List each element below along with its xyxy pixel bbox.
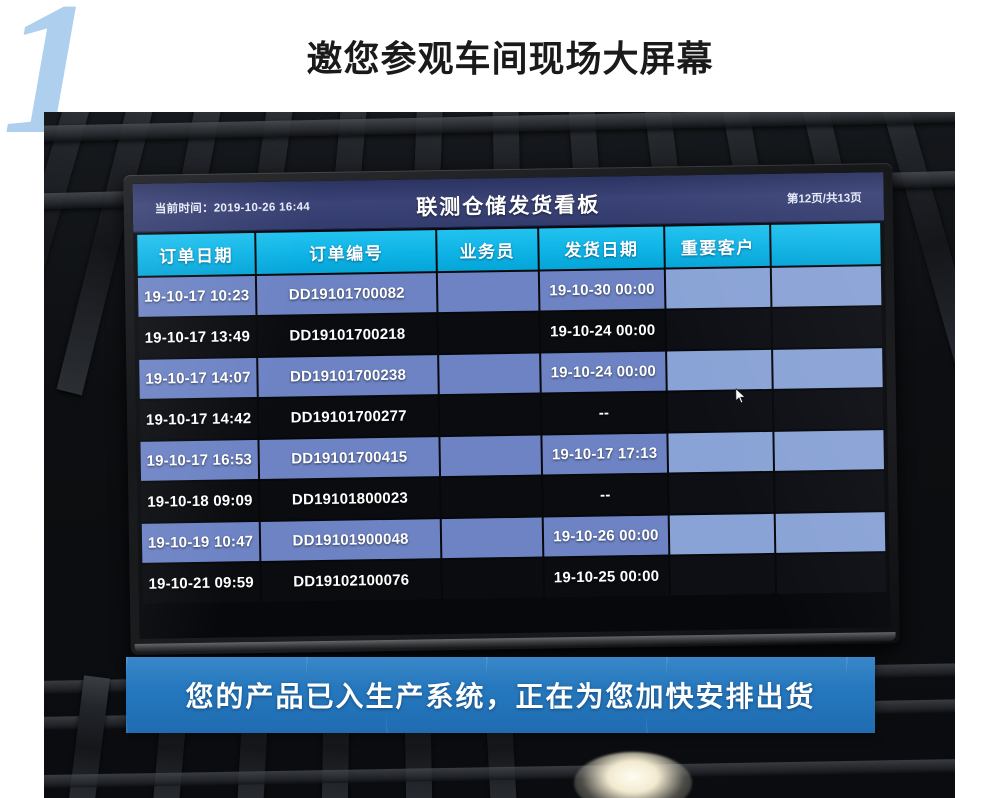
cell-order-date: 19-10-17 10:23: [138, 276, 256, 317]
cell-order-date: 19-10-17 14:07: [139, 358, 257, 399]
column-header-order-no: 订单编号: [256, 230, 436, 274]
cell-order-date: 19-10-17 13:49: [139, 317, 257, 358]
cell-key-customer: [667, 309, 772, 350]
cell-order-no: DD19101700218: [258, 314, 438, 356]
cell-key-customer: [671, 555, 776, 596]
cell-ship-date: 19-10-24 00:00: [540, 311, 665, 352]
cell-key-customer: [668, 391, 773, 432]
shipping-kanban-table: 订单日期 订单编号 业务员 发货日期 重要客户 19-10-17 10:23 D…: [133, 221, 890, 608]
table-body: 19-10-17 10:23 DD19101700082 19-10-30 00…: [138, 266, 886, 604]
cell-order-date: 19-10-19 10:47: [142, 522, 260, 563]
cell-key-customer: [666, 268, 771, 309]
page-indicator: 第12页/共13页: [787, 189, 862, 206]
page-title: 邀您参观车间现场大屏幕: [0, 30, 1000, 82]
cell-extra: [776, 512, 885, 553]
cell-salesperson: [439, 354, 539, 395]
cell-extra: [777, 553, 886, 594]
dashboard-title: 联测仓储发货看板: [133, 184, 884, 226]
cell-ship-date: 19-10-24 00:00: [541, 352, 666, 393]
column-header-salesperson: 业务员: [437, 229, 537, 272]
cell-salesperson: [442, 518, 542, 559]
column-header-extra: [771, 223, 880, 266]
bottom-banner: 您的产品已入生产系统，正在为您加快安排出货: [126, 657, 875, 733]
cell-order-date: 19-10-17 16:53: [140, 440, 258, 481]
banner-text: 您的产品已入生产系统，正在为您加快安排出货: [185, 675, 815, 715]
cell-order-date: 19-10-17 14:42: [140, 399, 258, 440]
column-header-key-customer: 重要客户: [665, 225, 770, 268]
cell-key-customer: [669, 473, 774, 514]
cell-ship-date: 19-10-17 17:13: [542, 434, 667, 475]
cell-salesperson: [441, 477, 541, 518]
cell-order-no: DD19101700238: [258, 355, 438, 397]
cell-extra: [773, 348, 882, 389]
tv-bezel: 当前时间：2019-10-26 16:44 联测仓储发货看板 第12页/共13页…: [123, 163, 899, 655]
cell-order-no: DD19101700277: [259, 396, 439, 438]
cell-salesperson: [438, 272, 538, 313]
cell-salesperson: [441, 436, 541, 477]
cell-extra: [775, 471, 884, 512]
cell-ship-date: 19-10-25 00:00: [544, 557, 669, 598]
column-header-order-date: 订单日期: [137, 233, 255, 276]
cell-order-no: DD19102100076: [261, 560, 441, 602]
cell-salesperson: [439, 313, 539, 354]
cell-order-no: DD19101700082: [257, 273, 437, 315]
cell-ship-date: 19-10-30 00:00: [539, 270, 664, 311]
cell-extra: [774, 389, 883, 430]
cell-key-customer: [670, 514, 775, 555]
cell-order-date: 19-10-21 09:59: [142, 563, 260, 604]
cell-order-date: 19-10-18 09:09: [141, 481, 259, 522]
cell-order-no: DD19101700415: [260, 437, 440, 479]
cell-ship-date: --: [541, 393, 666, 434]
cell-key-customer: [669, 432, 774, 473]
wall-mounted-tv: 当前时间：2019-10-26 16:44 联测仓储发货看板 第12页/共13页…: [123, 163, 899, 655]
column-header-ship-date: 发货日期: [539, 227, 664, 270]
cell-extra: [775, 430, 884, 471]
cell-ship-date: 19-10-26 00:00: [543, 516, 668, 557]
mouse-cursor-icon: [736, 388, 747, 404]
cell-order-no: DD19101900048: [261, 519, 441, 561]
cell-key-customer: [667, 350, 772, 391]
cell-ship-date: --: [543, 475, 668, 516]
tv-screen: 当前时间：2019-10-26 16:44 联测仓储发货看板 第12页/共13页…: [132, 172, 890, 639]
cell-extra: [773, 307, 882, 348]
cell-extra: [772, 266, 881, 307]
cell-order-no: DD19101800023: [260, 478, 440, 520]
cell-salesperson: [440, 395, 540, 436]
cell-salesperson: [442, 559, 542, 600]
